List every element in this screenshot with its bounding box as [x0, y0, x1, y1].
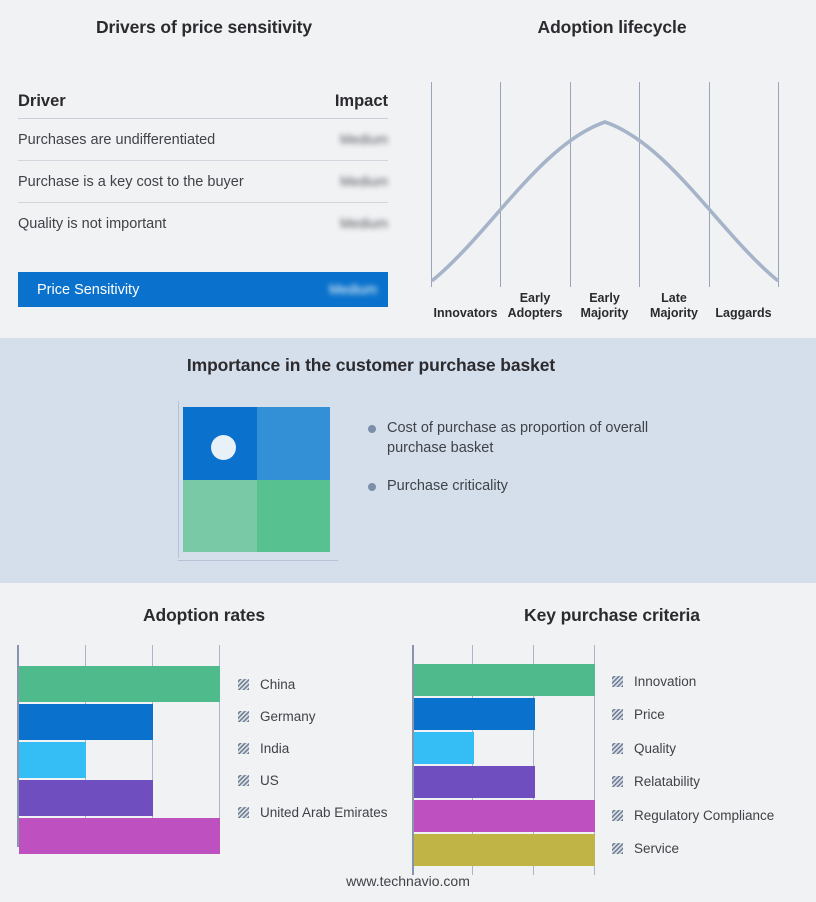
- criteria-legend: Innovation Price Quality Relatability Re…: [612, 645, 812, 875]
- bar-uae: [19, 818, 220, 854]
- table-row: Purchases are undifferentiated Medium: [18, 119, 388, 161]
- legend-item-label: Purchase criticality: [387, 478, 508, 494]
- stage-line-1: Laggards: [715, 306, 771, 320]
- matrix-quadrant-top-left: [183, 407, 257, 480]
- legend-item-label: Regulatory Compliance: [634, 808, 774, 823]
- legend-item: Price: [612, 707, 665, 722]
- hatch-swatch-icon: [238, 807, 249, 818]
- legend-item-label: Cost of purchase as proportion of overal…: [387, 420, 648, 456]
- column-header-impact: Impact: [304, 92, 388, 111]
- matrix-quadrant-grid: [183, 407, 330, 552]
- driver-label: Quality is not important: [18, 216, 304, 232]
- legend-item-label: China: [260, 677, 295, 692]
- legend-item: Relatability: [612, 774, 700, 789]
- hatch-swatch-icon: [238, 775, 249, 786]
- hatch-swatch-icon: [238, 711, 249, 722]
- drivers-of-price-sensitivity-panel: Driver Impact Purchases are undifferenti…: [0, 0, 408, 338]
- legend-item: China: [238, 677, 295, 692]
- legend-item: US: [238, 773, 279, 788]
- legend-item: Germany: [238, 709, 316, 724]
- legend-item-label: Innovation: [634, 674, 696, 689]
- importance-panel-title: Importance in the customer purchase bask…: [0, 355, 742, 376]
- hatch-swatch-icon: [238, 743, 249, 754]
- stage-line-1: Early: [589, 291, 620, 305]
- legend-item-label: India: [260, 741, 289, 756]
- lifecycle-stage-late-majority: LateMajority: [639, 291, 709, 320]
- purchase-basket-matrix: [178, 401, 340, 561]
- legend-item: Service: [612, 841, 679, 856]
- hatch-swatch-icon: [612, 676, 623, 687]
- adoption-rates-legend: China Germany India US United Arab Emira…: [238, 645, 408, 847]
- lifecycle-stage-innovators: Innovators: [431, 306, 500, 321]
- legend-item-label: United Arab Emirates: [260, 805, 388, 820]
- price-sensitivity-label: Price Sensitivity: [37, 282, 293, 298]
- bar-relatability: [414, 766, 535, 798]
- lifecycle-stage-early-majority: EarlyMajority: [570, 291, 639, 320]
- table-header-row: Driver Impact: [18, 92, 388, 119]
- adoption-rates-plot-area: [17, 645, 220, 847]
- legend-item-label: Price: [634, 707, 665, 722]
- lifecycle-stage-labels: Innovators EarlyAdopters EarlyMajority L…: [431, 282, 779, 320]
- bar-regulatory-compliance: [414, 800, 595, 832]
- legend-item-label: Relatability: [634, 774, 700, 789]
- lifecycle-stage-early-adopters: EarlyAdopters: [500, 291, 570, 320]
- hatch-swatch-icon: [612, 776, 623, 787]
- bar-us: [19, 780, 153, 816]
- bar-germany: [19, 704, 153, 740]
- impact-value-obscured: Medium: [304, 132, 388, 147]
- legend-item-label: Germany: [260, 709, 316, 724]
- legend-item: Quality: [612, 741, 676, 756]
- adoption-lifecycle-panel: Innovators EarlyAdopters EarlyMajority L…: [408, 0, 816, 338]
- matrix-quadrant-bottom-left: [183, 480, 257, 553]
- matrix-position-marker: [211, 435, 236, 460]
- adoption-bell-curve: [431, 82, 779, 287]
- stage-line-2: Adopters: [508, 306, 563, 320]
- bar-quality: [414, 732, 474, 764]
- stage-line-1: Early: [520, 291, 551, 305]
- bar-service: [414, 834, 595, 866]
- bar-innovation: [414, 664, 595, 696]
- column-header-driver: Driver: [18, 92, 304, 111]
- table-row: Quality is not important Medium: [18, 203, 388, 244]
- price-sensitivity-impact-obscured: Medium: [293, 282, 377, 297]
- lifecycle-stage-laggards: Laggards: [709, 306, 778, 321]
- hatch-swatch-icon: [612, 709, 623, 720]
- legend-item-label: US: [260, 773, 279, 788]
- matrix-quadrant-bottom-right: [257, 480, 331, 553]
- price-sensitivity-summary-row: Price Sensitivity Medium: [18, 272, 388, 307]
- criteria-plot-area: [412, 645, 595, 875]
- hatch-swatch-icon: [612, 743, 623, 754]
- drivers-table: Driver Impact Purchases are undifferenti…: [18, 92, 388, 244]
- matrix-horizontal-axis: [178, 560, 338, 561]
- matrix-quadrant-top-right: [257, 407, 331, 480]
- stage-line-2: Majority: [650, 306, 698, 320]
- table-row: Purchase is a key cost to the buyer Medi…: [18, 161, 388, 203]
- matrix-legend: Cost of purchase as proportion of overal…: [368, 419, 658, 516]
- bar-china: [19, 666, 220, 702]
- key-purchase-criteria-chart: Innovation Price Quality Relatability Re…: [408, 583, 816, 902]
- driver-label: Purchase is a key cost to the buyer: [18, 174, 304, 190]
- legend-item: United Arab Emirates: [238, 805, 388, 820]
- legend-item-label: Service: [634, 841, 679, 856]
- stage-line-1: Late: [661, 291, 687, 305]
- matrix-vertical-axis: [178, 401, 179, 558]
- hatch-swatch-icon: [612, 810, 623, 821]
- legend-item: Innovation: [612, 674, 696, 689]
- legend-item: India: [238, 741, 289, 756]
- impact-value-obscured: Medium: [304, 216, 388, 231]
- adoption-rates-chart: China Germany India US United Arab Emira…: [0, 583, 408, 902]
- footer-url: www.technavio.com: [0, 873, 816, 889]
- bar-india: [19, 742, 86, 778]
- legend-item: Purchase criticality: [368, 477, 658, 497]
- legend-item: Cost of purchase as proportion of overal…: [368, 419, 658, 458]
- hatch-swatch-icon: [612, 843, 623, 854]
- hatch-swatch-icon: [238, 679, 249, 690]
- bullet-icon: [368, 483, 376, 491]
- legend-item: Regulatory Compliance: [612, 808, 774, 823]
- stage-line-2: Majority: [581, 306, 629, 320]
- stage-line-1: Innovators: [434, 306, 498, 320]
- driver-label: Purchases are undifferentiated: [18, 132, 304, 148]
- bar-price: [414, 698, 535, 730]
- legend-item-label: Quality: [634, 741, 676, 756]
- impact-value-obscured: Medium: [304, 174, 388, 189]
- bullet-icon: [368, 425, 376, 433]
